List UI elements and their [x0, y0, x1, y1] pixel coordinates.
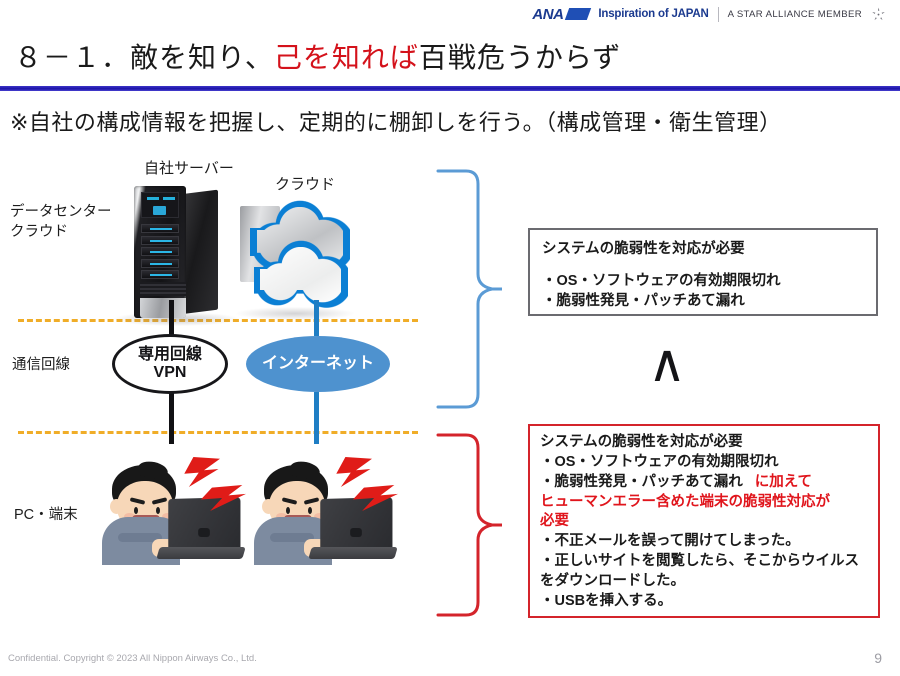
anger-bolt-icon	[182, 457, 220, 487]
server-drive-bay	[141, 270, 179, 279]
box-top-spacer	[542, 260, 864, 271]
person-eye-left	[134, 507, 138, 514]
laptop-screen	[168, 497, 240, 551]
box-top-bullet: ・OS・ソフトウェアの有効期限切れ	[542, 271, 864, 292]
node-label-server: 自社サーバー	[144, 157, 234, 178]
node-vpn-line: 専用回線 VPN	[112, 334, 228, 394]
vpn-label-line2: VPN	[154, 364, 187, 382]
node-internet: インターネット	[246, 336, 390, 392]
box-bottom-human-error-line1: ヒューマンエラー含めた端末の脆弱性対応が	[540, 493, 868, 513]
cloud-fill-front	[257, 247, 341, 303]
box-top-bullet: ・脆弱性発見・パッチあて漏れ	[542, 291, 864, 312]
ana-wordmark: ANA	[532, 6, 563, 23]
connector-internet-to-endpoint	[314, 392, 319, 444]
laptop-base	[308, 547, 397, 559]
server-drive-bay	[141, 224, 179, 233]
row-label-datacenter: データセンター クラウド	[10, 203, 112, 242]
connector-server-to-vpn	[169, 300, 174, 336]
box-bottom-patch-text: ・脆弱性発見・パッチあて漏れ	[540, 474, 743, 490]
connector-cloud-to-internet	[314, 300, 319, 336]
info-box-system-vulnerability: システムの脆弱性を対応が必要 ・OS・ソフトウェアの有効期限切れ ・脆弱性発見・…	[528, 228, 878, 316]
server-drive-bay	[141, 247, 179, 256]
server-display-chip	[153, 206, 166, 215]
star-alliance-label: A STAR ALLIANCE MEMBER	[728, 9, 862, 20]
laptop-base	[156, 547, 245, 559]
ana-tagline: Inspiration of JAPAN	[598, 8, 708, 20]
server-drive-bay	[141, 236, 179, 245]
row-label-network: 通信回線	[12, 356, 70, 376]
row-label-endpoint: PC・端末	[14, 506, 78, 526]
person-ear	[262, 499, 275, 514]
box-bottom-heading: システムの脆弱性を対応が必要	[540, 433, 868, 453]
ana-logo: ANA	[532, 6, 589, 23]
star-alliance-icon	[871, 7, 886, 22]
caret-up-icon: ∧	[648, 338, 686, 390]
user-at-laptop-illustration	[248, 455, 398, 565]
subtitle-note: ※自社の構成情報を把握し、定期的に棚卸しを行う。（構成管理・衛生管理）	[10, 105, 782, 137]
cloud-icon	[232, 196, 356, 316]
title-prefix: ８－１．敵を知り、	[14, 42, 274, 73]
page-title: ８－１．敵を知り、己を知れば百戦危うからず	[14, 36, 621, 76]
node-label-cloud: クラウド	[275, 173, 335, 194]
info-box-endpoint-vulnerability: システムの脆弱性を対応が必要 ・OS・ソフトウェアの有効期限切れ ・脆弱性発見・…	[528, 424, 880, 618]
laptop-screen	[320, 497, 392, 551]
title-suffix: 百戦危うからず	[419, 42, 621, 73]
anger-bolt-icon	[334, 457, 372, 487]
box-bottom-line-os: ・OS・ソフトウェアの有効期限切れ	[540, 453, 868, 473]
person-eye-left	[286, 507, 290, 514]
server-base-plinth	[140, 298, 186, 318]
box-bottom-line-patch: ・脆弱性発見・パッチあて漏れ に加えて	[540, 473, 868, 493]
divider-dashed-lower	[18, 431, 418, 434]
user-at-laptop-illustration	[96, 455, 246, 565]
connector-vpn-to-endpoint	[169, 392, 174, 444]
box-bottom-bullet: ・USBを挿入する。	[540, 592, 868, 612]
footer-copyright: Confidential. Copyright © 2023 All Nippo…	[8, 653, 257, 664]
ana-slash-icon	[565, 8, 591, 20]
brand-bar: ANA Inspiration of JAPAN A STAR ALLIANCE…	[532, 4, 886, 24]
cloud-shape-front	[250, 240, 348, 310]
person-eye-right	[156, 507, 160, 514]
box-top-heading: システムの脆弱性を対応が必要	[542, 239, 864, 260]
box-bottom-human-error-line2: 必要	[540, 512, 868, 532]
server-vent-grille	[140, 282, 186, 296]
server-front-panel	[134, 186, 186, 318]
vpn-label-line1: 専用回線	[138, 346, 202, 364]
internet-label: インターネット	[262, 355, 374, 373]
server-led-1	[147, 197, 159, 200]
box-bottom-bullet: ・不正メールを誤って開けてしまった。	[540, 532, 868, 552]
title-underline-rule	[0, 86, 900, 91]
title-accent: 己を知れば	[274, 42, 419, 73]
brace-upper-grouping	[436, 168, 502, 410]
server-rack-icon	[128, 186, 220, 320]
brand-divider	[718, 7, 719, 22]
person-ear	[110, 499, 123, 514]
page-number: 9	[874, 650, 882, 666]
server-led-2	[163, 197, 175, 200]
brace-lower-grouping	[436, 432, 502, 618]
server-drive-bay	[141, 259, 179, 268]
slide-canvas: ANA Inspiration of JAPAN A STAR ALLIANCE…	[0, 0, 900, 676]
person-eye-right	[308, 507, 312, 514]
box-bottom-bullet: ・正しいサイトを閲覧したら、そこからウイルス	[540, 552, 868, 572]
server-top-bay	[141, 192, 179, 218]
box-bottom-bullet: をダウンロードした。	[540, 572, 868, 592]
box-bottom-patch-suffix: に加えて	[755, 474, 812, 490]
